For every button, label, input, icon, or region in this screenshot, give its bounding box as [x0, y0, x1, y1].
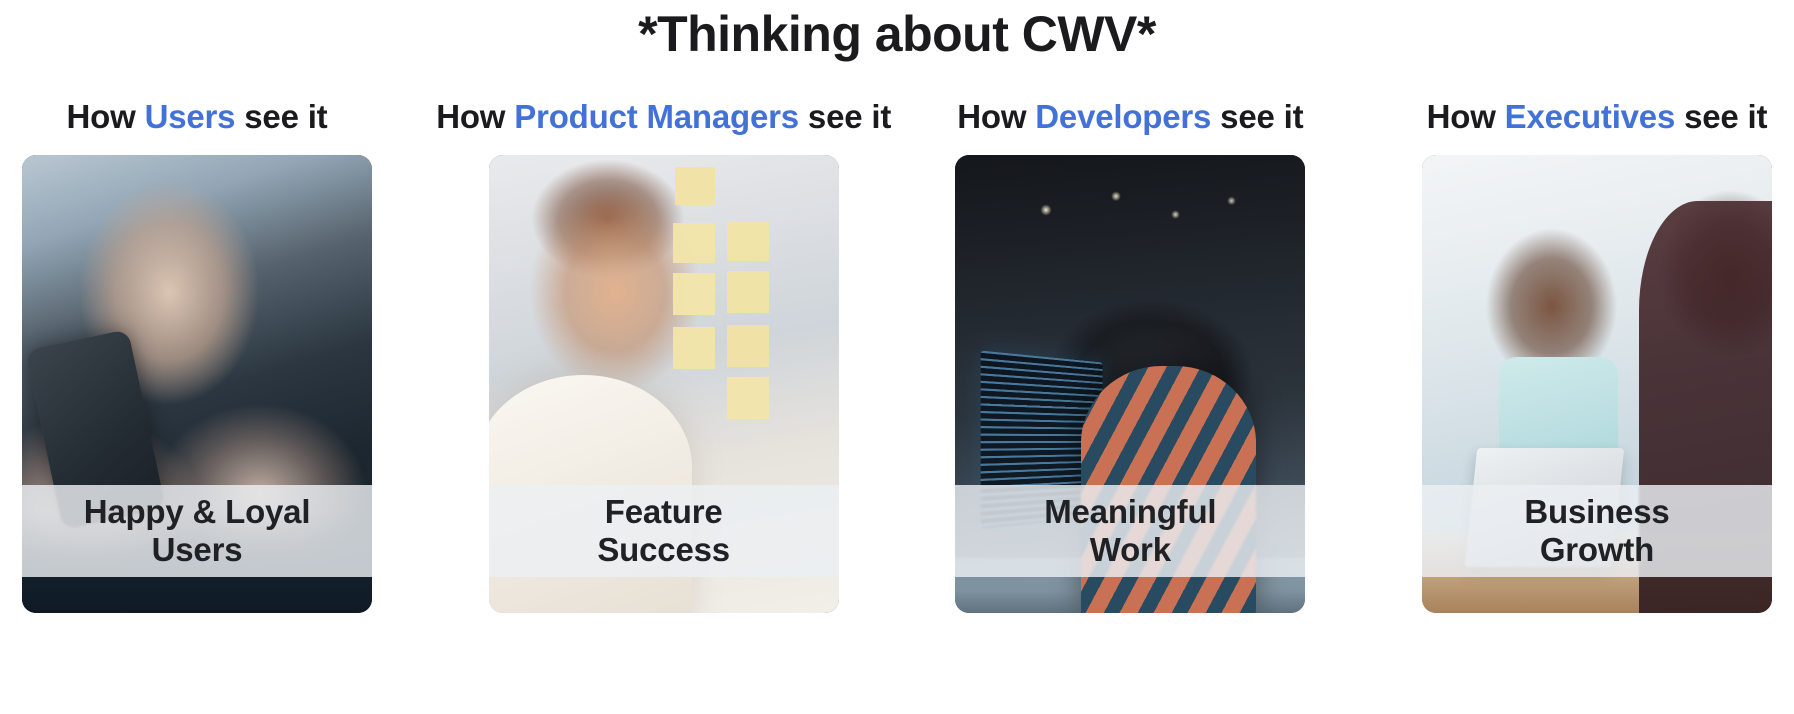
- column-heading-developers: How Developers see it: [957, 95, 1303, 139]
- page-title: *Thinking about CWV*: [0, 2, 1794, 66]
- columns-container: How Users see it Happy & Loyal Users How…: [22, 95, 1772, 613]
- column-heading-users: How Users see it: [67, 95, 328, 139]
- card-developers[interactable]: Meaningful Work: [955, 155, 1305, 613]
- heading-accent-developers: Developers: [1035, 98, 1211, 135]
- card-caption-text-executives: Business Growth: [1524, 493, 1669, 569]
- card-caption-text-developers: Meaningful Work: [1044, 493, 1216, 569]
- column-heading-executives: How Executives see it: [1427, 95, 1768, 139]
- slide-root: *Thinking about CWV* How Users see it Ha…: [0, 0, 1794, 714]
- card-users[interactable]: Happy & Loyal Users: [22, 155, 372, 613]
- card-caption-developers: Meaningful Work: [955, 485, 1305, 577]
- heading-suffix: see it: [1211, 98, 1303, 135]
- heading-accent-product-managers: Product Managers: [514, 98, 799, 135]
- card-product-managers[interactable]: Feature Success: [489, 155, 839, 613]
- heading-suffix: see it: [235, 98, 327, 135]
- heading-prefix: How: [957, 98, 1035, 135]
- heading-accent-executives: Executives: [1505, 98, 1675, 135]
- column-executives: How Executives see it Business Growth: [1422, 95, 1772, 613]
- card-caption-executives: Business Growth: [1422, 485, 1772, 577]
- column-heading-product-managers: How Product Managers see it: [436, 95, 891, 139]
- heading-prefix: How: [436, 98, 514, 135]
- card-caption-text-product-managers: Feature Success: [597, 493, 730, 569]
- column-product-managers: How Product Managers see it Feature Succ…: [489, 95, 839, 613]
- card-executives[interactable]: Business Growth: [1422, 155, 1772, 613]
- card-caption-users: Happy & Loyal Users: [22, 485, 372, 577]
- heading-suffix: see it: [1675, 98, 1767, 135]
- card-caption-text-users: Happy & Loyal Users: [84, 493, 311, 569]
- heading-prefix: How: [1427, 98, 1505, 135]
- column-users: How Users see it Happy & Loyal Users: [22, 95, 372, 613]
- heading-prefix: How: [67, 98, 145, 135]
- card-caption-product-managers: Feature Success: [489, 485, 839, 577]
- column-developers: How Developers see it Meaningful Work: [955, 95, 1305, 613]
- heading-suffix: see it: [799, 98, 891, 135]
- heading-accent-users: Users: [145, 98, 236, 135]
